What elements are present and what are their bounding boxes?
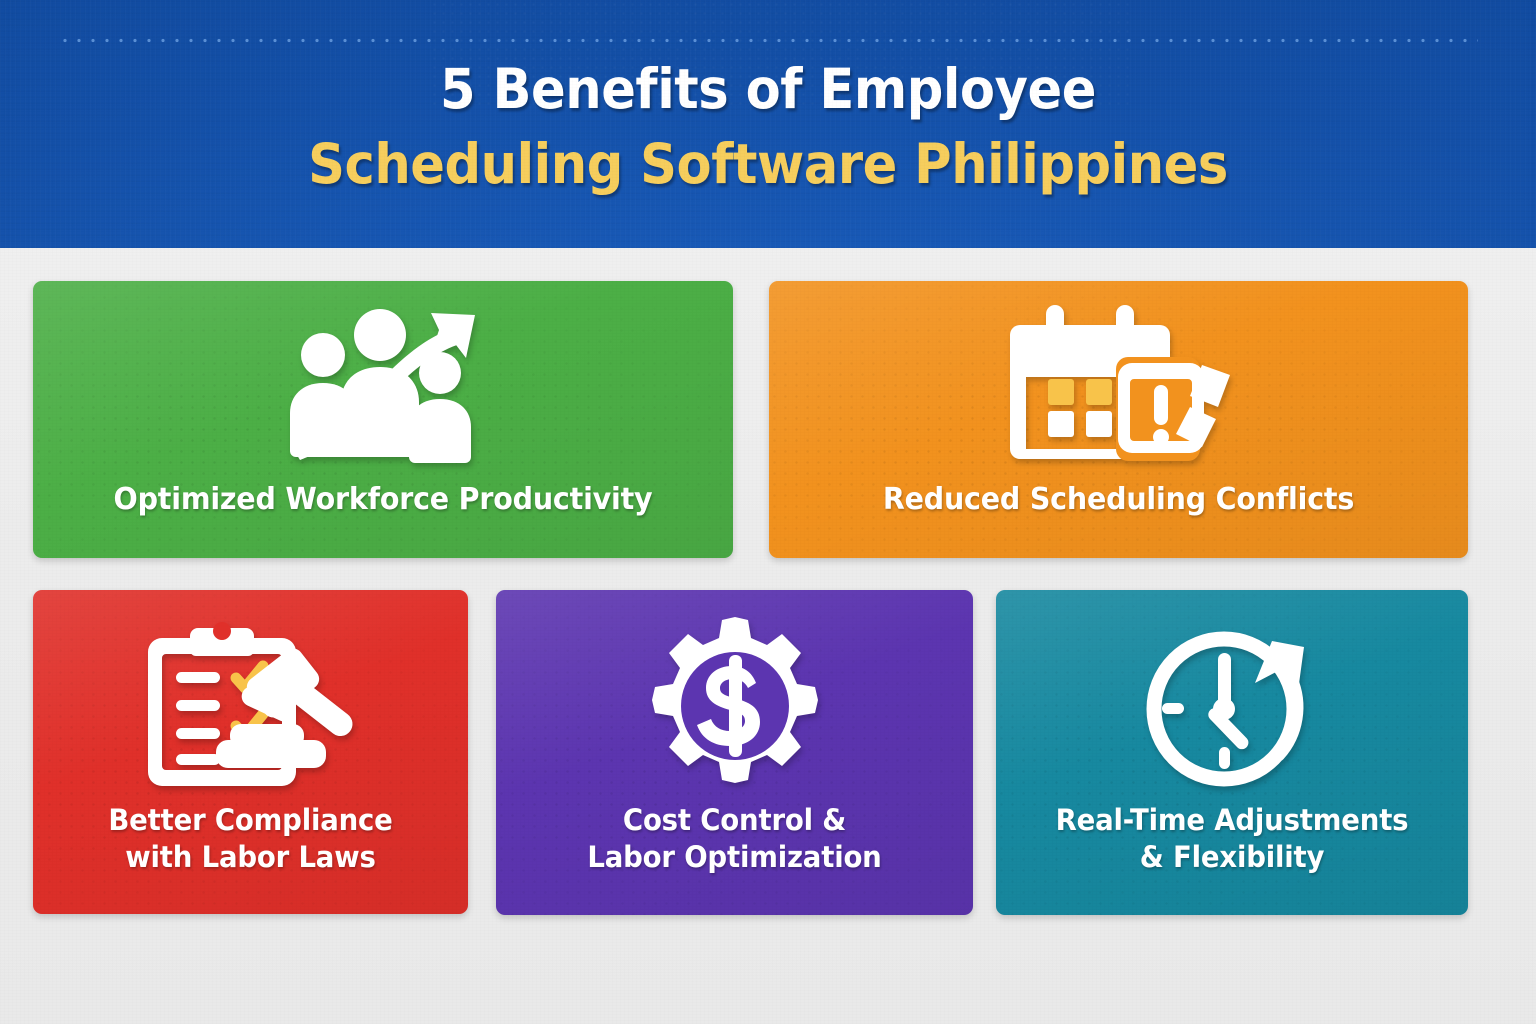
card-label: Better Compliance with Labor Laws [44, 802, 457, 876]
card-icon-slot [496, 590, 973, 802]
page-title: 5 Benefits of Employee Scheduling Softwa… [0, 62, 1536, 192]
calendar-alert-icon [1004, 303, 1234, 475]
title-line-primary: 5 Benefits of Employee [54, 62, 1482, 117]
card-label-line2: & Flexibility [1140, 840, 1324, 874]
card-icon-slot [769, 281, 1468, 481]
gear-dollar-icon [646, 617, 824, 795]
card-icon-slot [33, 590, 468, 802]
people-growth-arrow-icon [281, 307, 486, 472]
benefit-card-better-compliance-with-labor-laws[interactable]: Better Compliance with Labor Laws [33, 590, 468, 914]
clock-refresh-icon [1140, 619, 1325, 794]
dotted-divider [58, 38, 1478, 43]
card-label-line2: with Labor Laws [125, 840, 375, 874]
card-label: Reduced Scheduling Conflicts [786, 481, 1450, 519]
card-label-line2: Labor Optimization [587, 840, 881, 874]
clipboard-gavel-icon [142, 620, 360, 792]
benefit-card-cost-control-labor-optimization[interactable]: Cost Control & Labor Optimization [496, 590, 973, 915]
card-icon-slot [33, 281, 733, 481]
header-banner: 5 Benefits of Employee Scheduling Softwa… [0, 0, 1536, 248]
card-label: Cost Control & Labor Optimization [508, 802, 961, 876]
benefit-card-reduced-scheduling-conflicts[interactable]: Reduced Scheduling Conflicts [769, 281, 1468, 558]
card-label-line1: Real-Time Adjustments [1056, 803, 1409, 837]
benefit-card-real-time-adjustments-flexibility[interactable]: Real-Time Adjustments & Flexibility [996, 590, 1468, 915]
title-line-secondary: Scheduling Software Philippines [54, 137, 1482, 192]
card-label: Optimized Workforce Productivity [51, 481, 716, 519]
card-label-line1: Better Compliance [108, 803, 392, 837]
card-label: Real-Time Adjustments & Flexibility [1008, 802, 1456, 876]
card-icon-slot [996, 590, 1468, 802]
infographic-canvas: 5 Benefits of Employee Scheduling Softwa… [0, 0, 1536, 1024]
card-label-line1: Cost Control & [623, 803, 846, 837]
benefit-card-optimized-workforce-productivity[interactable]: Optimized Workforce Productivity [33, 281, 733, 558]
